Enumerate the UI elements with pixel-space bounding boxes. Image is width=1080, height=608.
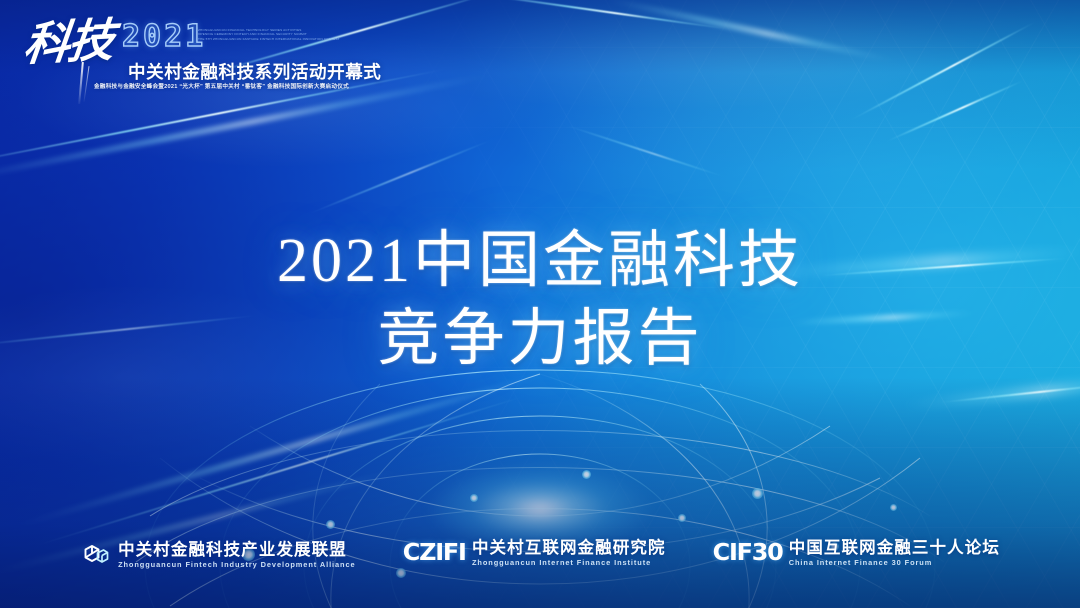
logo-text-block: 中国互联网金融三十人论坛 China Internet Finance 30 F… <box>789 540 1000 567</box>
logo-zgc-fintech-alliance: 中关村金融科技产业发展联盟 Zhongguancun Fintech Indus… <box>80 540 356 570</box>
light-streak <box>471 0 729 30</box>
event-header-badge: 科技 2021 ZHONGGUANCUN FINANCIAL TECHNOLOG… <box>24 18 344 104</box>
logo-name-en: Zhongguancun Fintech Industry Developmen… <box>118 561 356 568</box>
calligraphy-stroke-tail2 <box>83 66 89 102</box>
calligraphy-keji-mark: 科技 <box>21 18 114 69</box>
cube-logo-icon <box>80 540 110 570</box>
logo-text-block: 中关村互联网金融研究院 Zhongguancun Internet Financ… <box>472 540 666 567</box>
micro-line-3: THE 5TH ZHONGGUANCUN FANTIAKE FINTECH IN… <box>198 37 346 41</box>
network-node <box>890 504 897 511</box>
header-event-title: 中关村金融科技系列活动开幕式 <box>128 59 381 84</box>
czifi-wordmark-icon: CZIFI <box>402 542 465 565</box>
logo-text-block: 中关村金融科技产业发展联盟 Zhongguancun Fintech Indus… <box>118 542 356 569</box>
light-streak <box>886 80 1024 143</box>
globe-lines <box>130 366 950 608</box>
network-globe-graphic <box>130 366 950 608</box>
network-node <box>326 520 335 529</box>
logo-zgc-internet-finance-institute: CZIFI 中关村互联网金融研究院 Zhongguancun Internet … <box>404 540 666 567</box>
light-streak <box>603 0 897 63</box>
logo-name-cn: 中国互联网金融三十人论坛 <box>789 540 1000 557</box>
presentation-slide: 科技 2021 ZHONGGUANCUN FINANCIAL TECHNOLOG… <box>0 0 1080 608</box>
light-streak <box>31 394 529 548</box>
light-streak <box>564 124 726 178</box>
logo-name-en: China Internet Finance 30 Forum <box>789 559 1000 566</box>
network-node <box>470 494 478 502</box>
title-line-1: 2021中国金融科技 <box>0 222 1080 300</box>
network-node <box>678 514 686 522</box>
logo-name-cn: 中关村金融科技产业发展联盟 <box>118 542 356 559</box>
logo-name-cn: 中关村互联网金融研究院 <box>472 540 666 557</box>
footer-logo-bar: 中关村金融科技产业发展联盟 Zhongguancun Fintech Indus… <box>0 540 1080 570</box>
light-streak <box>10 371 549 529</box>
network-node <box>582 470 591 479</box>
cif30-wordmark-icon: CIF30 <box>712 542 782 565</box>
header-event-subtitle: 金融科技与金融安全峰会暨2021 “光大杯” 第五届中关村 “番钛客” 金融科技… <box>94 82 349 90</box>
logo-cif30-forum: CIF30 中国互联网金融三十人论坛 China Internet Financ… <box>714 540 1000 567</box>
light-streak <box>900 374 1080 410</box>
light-streak <box>940 383 1080 404</box>
network-node <box>752 488 763 499</box>
light-streak <box>850 21 1036 121</box>
title-line-2: 竞争力报告 <box>0 300 1080 378</box>
header-micro-english: ZHONGGUANCUN FINANCIAL TECHNOLOGY SERIES… <box>198 28 346 41</box>
year-outline-2021: 2021 <box>122 22 206 52</box>
page-title: 2021中国金融科技 竞争力报告 <box>0 222 1080 378</box>
light-streak <box>307 139 493 216</box>
logo-name-en: Zhongguancun Internet Finance Institute <box>472 559 666 566</box>
